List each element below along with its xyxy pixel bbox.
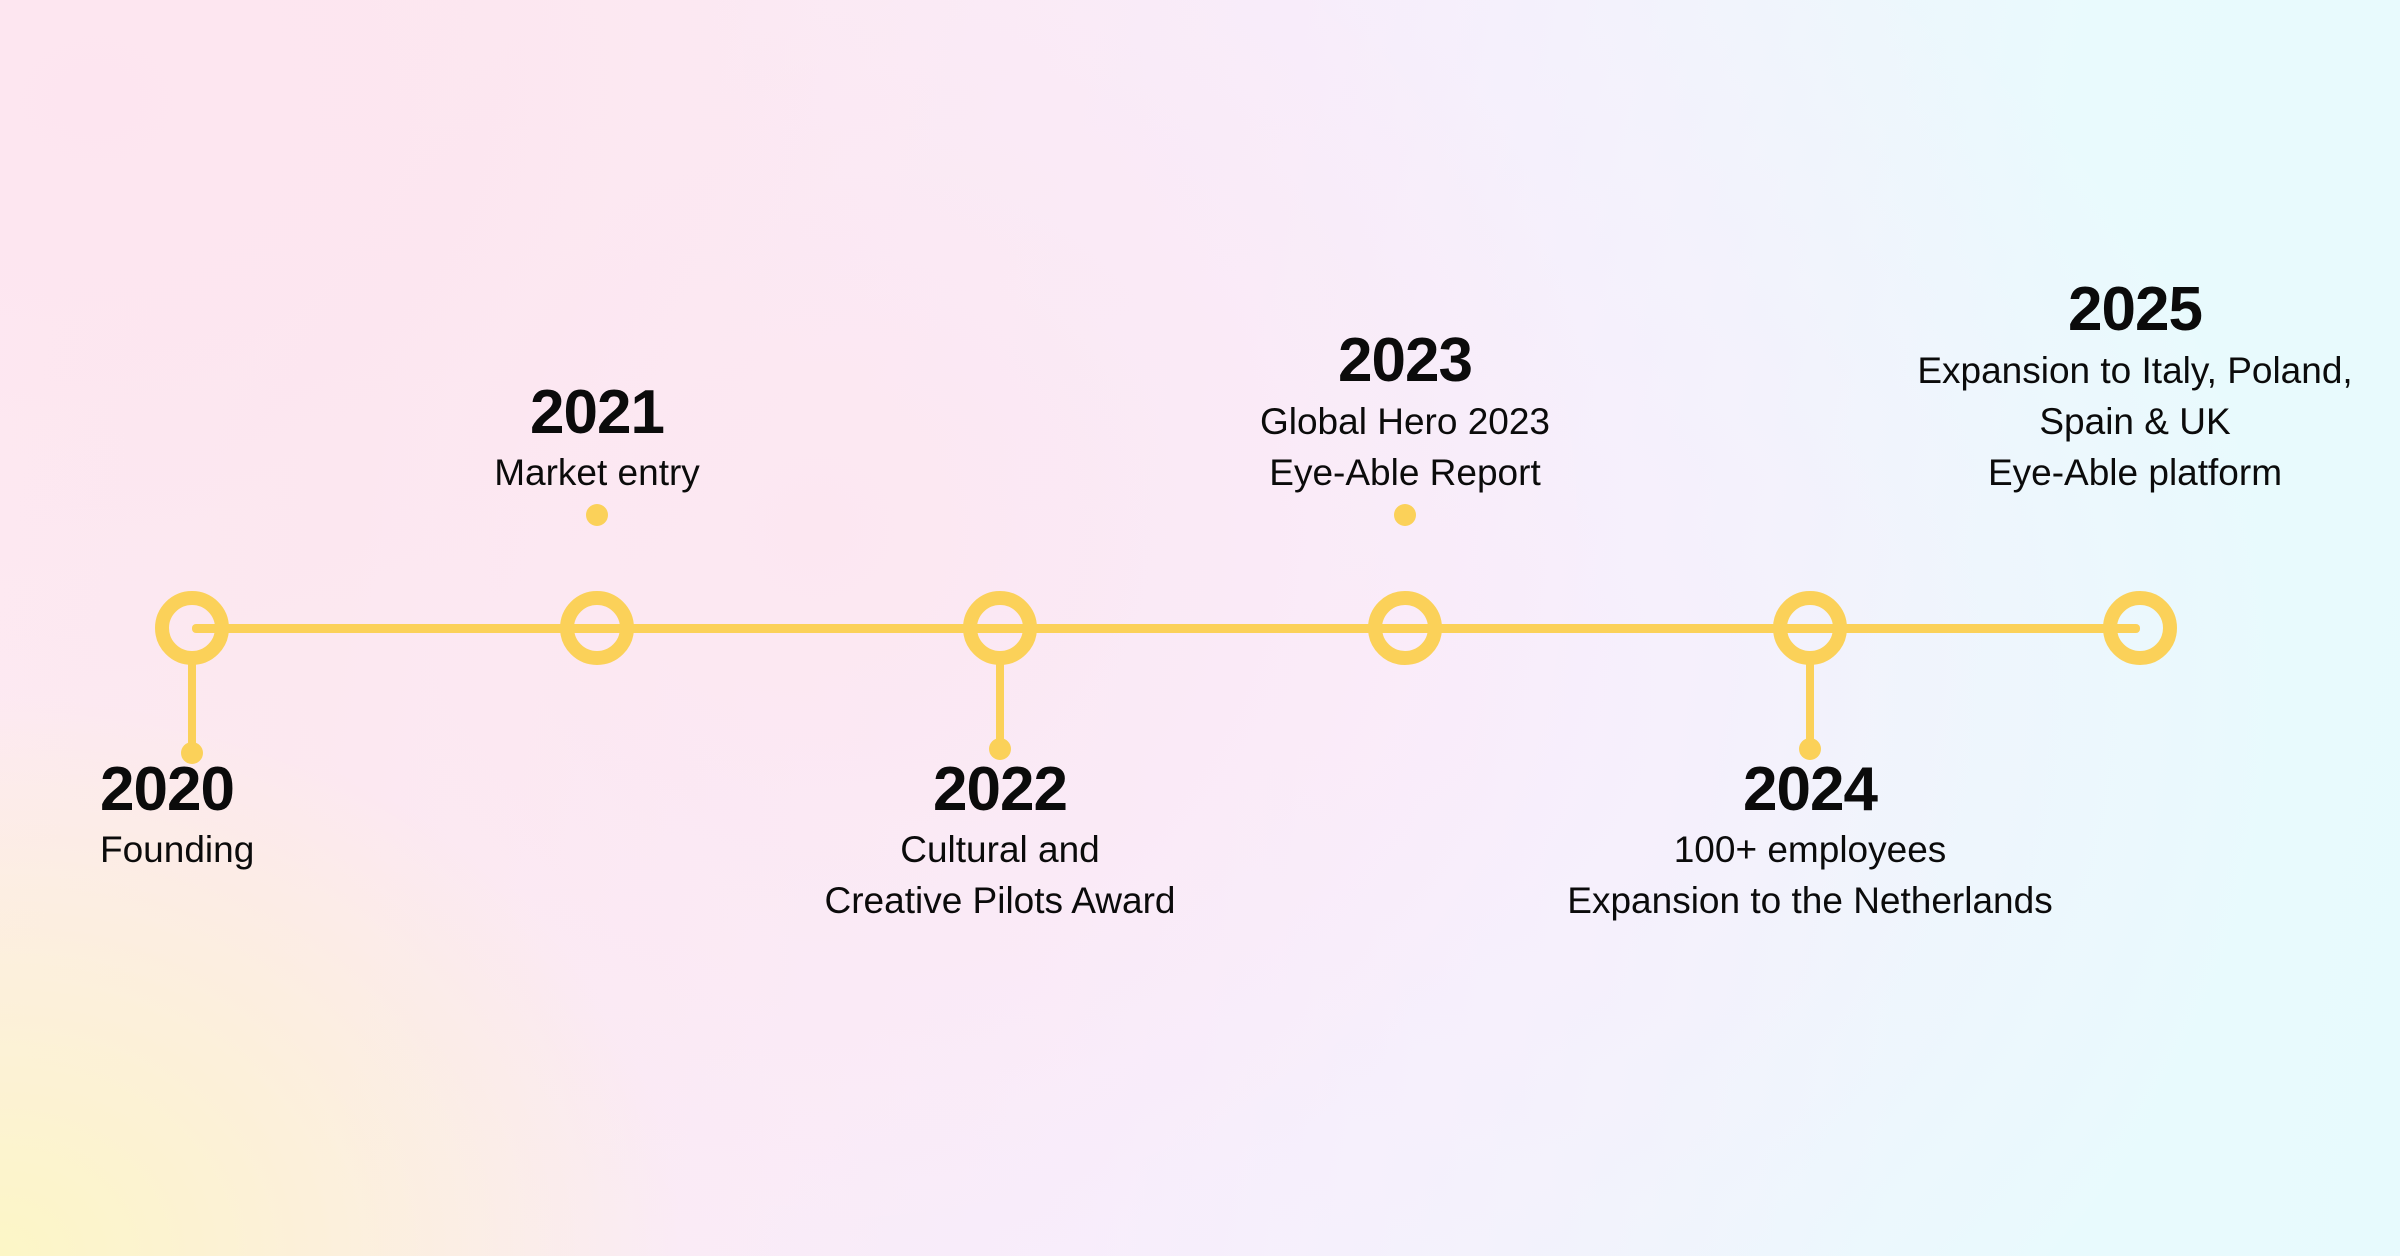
timeline-stem-dot-icon xyxy=(586,504,608,526)
milestone-year: 2020 xyxy=(100,755,254,824)
milestone-desc-line: Eye-Able platform xyxy=(1917,447,2352,498)
timeline-node-ring-icon xyxy=(155,591,229,665)
milestone-year: 2025 xyxy=(1917,275,2352,344)
milestone-year: 2021 xyxy=(494,378,700,447)
milestone-desc-line: Expansion to Italy, Poland, xyxy=(1917,345,2352,396)
timeline-node-ring-icon xyxy=(963,591,1037,665)
milestone-year: 2023 xyxy=(1260,326,1550,395)
milestone-desc-line: Cultural and xyxy=(825,824,1176,875)
timeline-node-ring-icon xyxy=(1773,591,1847,665)
timeline-connector-stem xyxy=(1806,655,1814,749)
timeline-stem-dot-icon xyxy=(1394,504,1416,526)
milestone-label-2021: 2021 Market entry xyxy=(494,378,700,498)
milestone-desc-line: 100+ employees xyxy=(1567,824,2052,875)
timeline-connector-stem xyxy=(188,655,196,753)
milestone-desc-line: Global Hero 2023 xyxy=(1260,396,1550,447)
milestone-label-2024: 2024 100+ employees Expansion to the Net… xyxy=(1567,755,2052,927)
milestone-year: 2022 xyxy=(825,755,1176,824)
milestone-desc-line: Expansion to the Netherlands xyxy=(1567,875,2052,926)
milestone-desc-line: Eye-Able Report xyxy=(1260,447,1550,498)
milestone-desc-line: Founding xyxy=(100,824,254,875)
milestone-label-2022: 2022 Cultural and Creative Pilots Award xyxy=(825,755,1176,927)
milestone-label-2025: 2025 Expansion to Italy, Poland, Spain &… xyxy=(1917,275,2352,498)
timeline-axis-line xyxy=(192,624,2140,633)
timeline-connector-stem xyxy=(996,655,1004,749)
milestone-desc-line: Spain & UK xyxy=(1917,396,2352,447)
milestone-desc-line: Creative Pilots Award xyxy=(825,875,1176,926)
milestone-year: 2024 xyxy=(1567,755,2052,824)
milestone-label-2020: 2020 Founding xyxy=(100,755,254,875)
milestone-desc-line: Market entry xyxy=(494,447,700,498)
timeline-node-ring-icon xyxy=(560,591,634,665)
timeline-node-ring-icon xyxy=(2103,591,2177,665)
milestone-label-2023: 2023 Global Hero 2023 Eye-Able Report xyxy=(1260,326,1550,498)
timeline-node-ring-icon xyxy=(1368,591,1442,665)
